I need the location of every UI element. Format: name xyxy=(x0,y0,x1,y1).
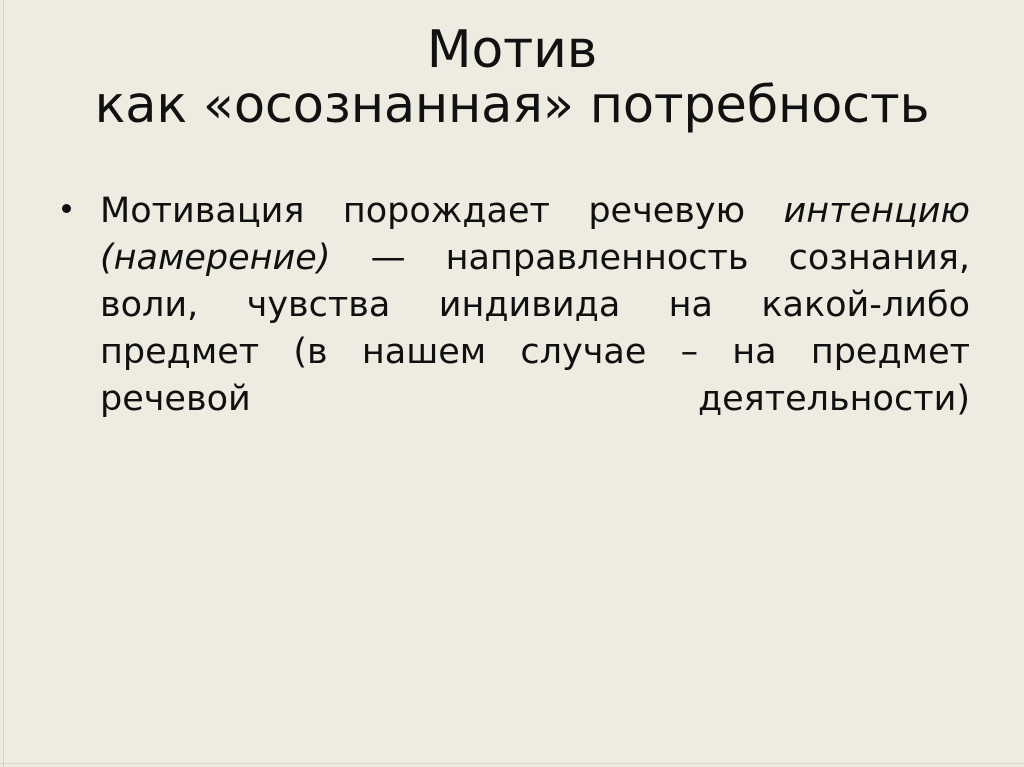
title-line-1: Мотив xyxy=(0,22,1024,78)
bullet-segment-regular-1: Мотивация порождает речевую xyxy=(100,191,784,231)
bullet-dot-icon xyxy=(62,204,71,213)
bullet-item-text: Мотивация порождает речевую интенцию (на… xyxy=(100,188,970,470)
slide-body: Мотивация порождает речевую интенцию (на… xyxy=(60,188,970,470)
bullet-list-item: Мотивация порождает речевую интенцию (на… xyxy=(60,188,970,470)
title-line-2: как «осознанная» потребность xyxy=(0,78,1024,134)
slide-canvas: Мотив как «осознанная» потребность Мотив… xyxy=(0,0,1024,767)
slide-title: Мотив как «осознанная» потребность xyxy=(0,22,1024,134)
